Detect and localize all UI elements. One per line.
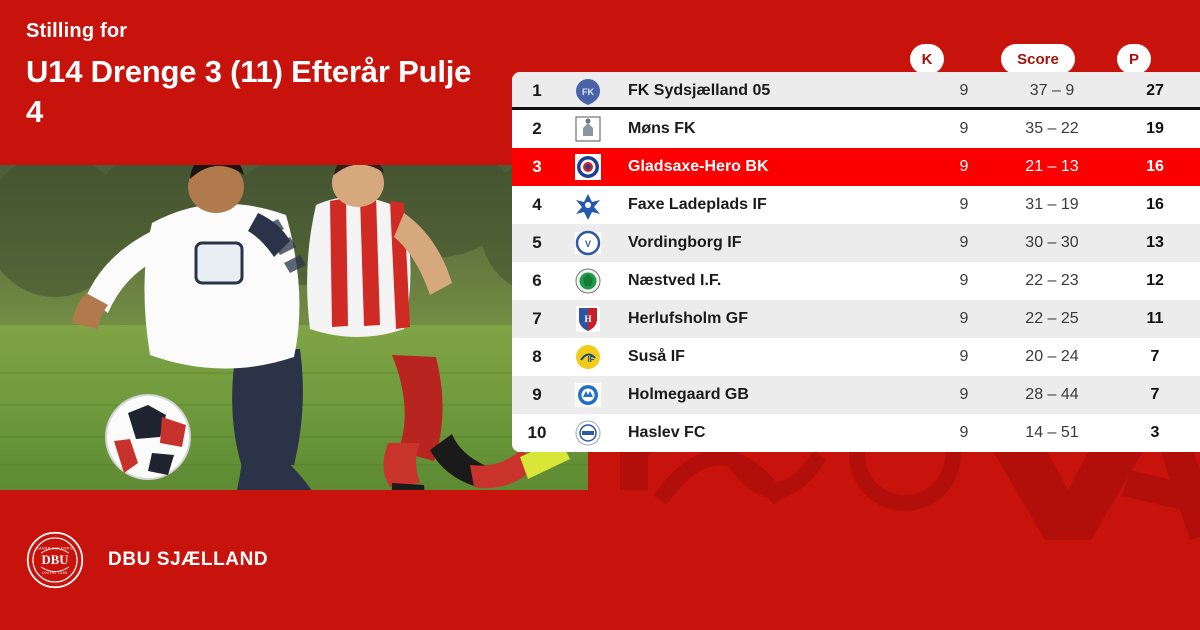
table-row[interactable]: 2Møns FK935 – 2219 [512,110,1200,148]
table-row[interactable]: 5VVordingborg IF930 – 3013 [512,224,1200,262]
svg-text:IF: IF [587,355,594,364]
moens-fk-crest [562,114,614,144]
header-block: Stilling for U14 Drenge 3 (11) Efterår P… [26,20,496,131]
row-position: 10 [512,423,562,443]
row-position: 9 [512,385,562,405]
row-position: 3 [512,157,562,177]
row-team-name: Møns FK [614,120,928,138]
susaa-if-crest: IF [562,342,614,372]
svg-text:FK: FK [582,87,594,97]
row-goal-score: 22 – 23 [994,272,1110,290]
row-goal-score: 22 – 25 [994,310,1110,328]
row-goal-score: 31 – 19 [994,196,1110,214]
column-headers: K Score P [512,44,1200,74]
row-points: 19 [1110,120,1200,138]
row-points: 7 [1110,348,1200,366]
table-row[interactable]: 1FKFK Sydsjælland 05937 – 927 [512,72,1200,110]
svg-text:DANSK BOLDSPIL: DANSK BOLDSPIL [36,547,74,551]
row-position: 5 [512,233,562,253]
table-row[interactable]: 10Haslev FC914 – 513 [512,414,1200,452]
fk-sydsjaelland-crest: FK [562,76,614,106]
row-position: 2 [512,119,562,139]
faxe-ladeplads-crest [562,190,614,220]
table-row[interactable]: 7HHerlufsholm GF922 – 2511 [512,300,1200,338]
table-row[interactable]: 9Holmegaard GB928 – 447 [512,376,1200,414]
row-points: 7 [1110,386,1200,404]
row-matches-played: 9 [934,82,994,100]
haslev-fc-crest [562,418,614,448]
dbu-crest-logo: DBU DANSK BOLDSPIL UNION 1889 [26,531,84,589]
footer-bar: DBU DANSK BOLDSPIL UNION 1889 DBU SJÆLLA… [0,490,1200,630]
table-row[interactable]: 4Faxe Ladeplads IF931 – 1916 [512,186,1200,224]
svg-text:H: H [584,314,591,324]
holmegaard-crest [562,380,614,410]
table-row[interactable]: 3Gladsaxe-Hero BK921 – 1316 [512,148,1200,186]
column-header-k: K [910,44,944,74]
row-position: 7 [512,309,562,329]
standings-graphic: Stilling for U14 Drenge 3 (11) Efterår P… [0,0,1200,630]
row-team-name: Gladsaxe-Hero BK [614,158,928,176]
row-goal-score: 14 – 51 [994,424,1110,442]
vordingborg-crest: V [562,228,614,258]
column-header-score: Score [1001,44,1075,74]
row-matches-played: 9 [934,272,994,290]
row-matches-played: 9 [934,386,994,404]
svg-text:UNION 1889: UNION 1889 [42,571,68,575]
row-position: 6 [512,271,562,291]
row-points: 16 [1110,158,1200,176]
row-points: 12 [1110,272,1200,290]
footer-label: DBU SJÆLLAND [108,549,268,571]
row-team-name: Haslev FC [614,424,928,442]
row-points: 16 [1110,196,1200,214]
row-position: 1 [512,81,562,101]
row-goal-score: 35 – 22 [994,120,1110,138]
row-position: 8 [512,347,562,367]
naestved-crest [562,266,614,296]
row-matches-played: 9 [934,424,994,442]
row-goal-score: 30 – 30 [994,234,1110,252]
row-points: 27 [1110,82,1200,100]
row-team-name: Herlufsholm GF [614,310,928,328]
row-points: 13 [1110,234,1200,252]
row-matches-played: 9 [934,158,994,176]
row-team-name: Vordingborg IF [614,234,928,252]
column-header-p: P [1117,44,1151,74]
row-goal-score: 21 – 13 [994,158,1110,176]
row-position: 4 [512,195,562,215]
row-matches-played: 9 [934,196,994,214]
row-points: 3 [1110,424,1200,442]
row-goal-score: 20 – 24 [994,348,1110,366]
row-matches-played: 9 [934,310,994,328]
herlufsholm-crest: H [562,304,614,334]
table-row[interactable]: 6Næstved I.F.922 – 2312 [512,262,1200,300]
row-points: 11 [1110,310,1200,328]
table-row[interactable]: 8IFSuså IF920 – 247 [512,338,1200,376]
row-team-name: Næstved I.F. [614,272,928,290]
row-team-name: Faxe Ladeplads IF [614,196,928,214]
row-matches-played: 9 [934,234,994,252]
svg-text:V: V [585,239,591,249]
page-title: U14 Drenge 3 (11) Efterår Pulje 4 [26,52,496,131]
row-team-name: Suså IF [614,348,928,366]
row-goal-score: 37 – 9 [994,82,1110,100]
standings-table: 1FKFK Sydsjælland 05937 – 9272Møns FK935… [512,72,1200,452]
svg-text:DBU: DBU [42,553,69,567]
row-goal-score: 28 – 44 [994,386,1110,404]
youth-football-match-photo [0,165,588,490]
row-team-name: Holmegaard GB [614,386,928,404]
header-kicker: Stilling for [26,20,496,42]
row-team-name: FK Sydsjælland 05 [614,82,928,100]
row-matches-played: 9 [934,120,994,138]
gladsaxe-hero-crest [562,152,614,182]
row-matches-played: 9 [934,348,994,366]
